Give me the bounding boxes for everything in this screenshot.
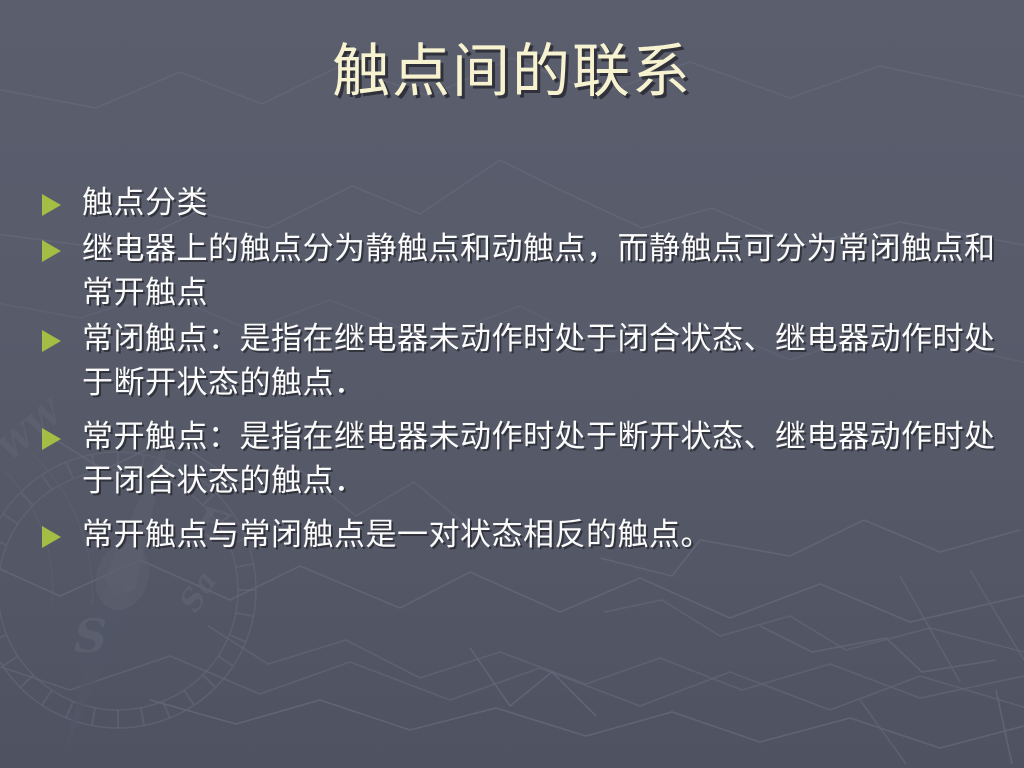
bullet-marker: [36, 513, 82, 548]
presentation-slide: S E Sa WW 触点间的联系 触点分类 继电器: [0, 0, 1024, 768]
triangle-right-icon: [42, 330, 61, 352]
bullet-item: 触点分类: [36, 181, 996, 225]
title-placeholder: 触点间的联系: [0, 40, 1024, 104]
triangle-right-icon: [42, 240, 61, 262]
bullet-marker: [36, 181, 82, 216]
compass-letter-s: S: [74, 609, 107, 663]
bullet-item: 常闭触点：是指在继电器未动作时处于闭合状态、继电器动作时处于断开状态的触点．: [36, 317, 996, 405]
bullet-marker: [36, 415, 82, 450]
bullet-text: 触点分类: [82, 181, 996, 225]
triangle-right-icon: [42, 428, 61, 450]
bullet-text: 继电器上的触点分为静触点和动触点，而静触点可分为常闭触点和常开触点: [82, 227, 996, 315]
page-title: 触点间的联系: [332, 40, 692, 104]
bullet-item: 常开触点与常闭触点是一对状态相反的触点。: [36, 513, 996, 557]
bullet-text: 常开触点与常闭触点是一对状态相反的触点。: [82, 513, 996, 557]
bullet-item: 常开触点：是指在继电器未动作时处于断开状态、继电器动作时处于闭合状态的触点．: [36, 415, 996, 503]
triangle-right-icon: [42, 194, 61, 216]
compass-letter-w: Sa: [173, 565, 224, 618]
content-placeholder: 触点分类 继电器上的触点分为静触点和动触点，而静触点可分为常闭触点和常开触点 常…: [36, 181, 996, 559]
bullet-marker: [36, 227, 82, 262]
bullet-marker: [36, 317, 82, 352]
bullet-text: 常开触点：是指在继电器未动作时处于断开状态、继电器动作时处于闭合状态的触点．: [82, 415, 996, 503]
bullet-text: 常闭触点：是指在继电器未动作时处于闭合状态、继电器动作时处于断开状态的触点．: [82, 317, 996, 405]
triangle-right-icon: [42, 526, 61, 548]
bullet-item: 继电器上的触点分为静触点和动触点，而静触点可分为常闭触点和常开触点: [36, 227, 996, 315]
